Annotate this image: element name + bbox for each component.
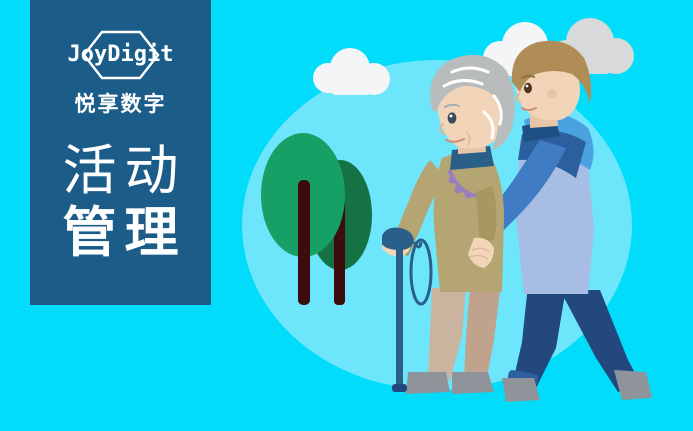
man-ear — [547, 89, 557, 99]
brand-logo: JoyDigit — [51, 30, 191, 80]
cane-shaft — [396, 244, 403, 389]
page-title: 活动 管理 — [30, 140, 211, 264]
brand-wordmark: JoyDigit — [51, 43, 191, 67]
title-panel: JoyDigit 悦享数字 活动 管理 — [30, 0, 211, 305]
man-front-shoe — [502, 378, 540, 402]
man-eye — [524, 83, 532, 93]
poster-canvas: JoyDigit 悦享数字 活动 管理 — [0, 0, 693, 431]
page-title-line1: 活动 — [30, 140, 211, 202]
brand-chinese-name: 悦享数字 — [30, 88, 211, 118]
brand-block: JoyDigit 悦享数字 — [30, 30, 211, 118]
woman-back-shoe — [452, 372, 494, 394]
woman-front-shoe — [406, 372, 450, 394]
page-title-line2: 管理 — [30, 202, 211, 264]
cane-tip — [392, 384, 407, 392]
woman-eye — [448, 112, 457, 123]
